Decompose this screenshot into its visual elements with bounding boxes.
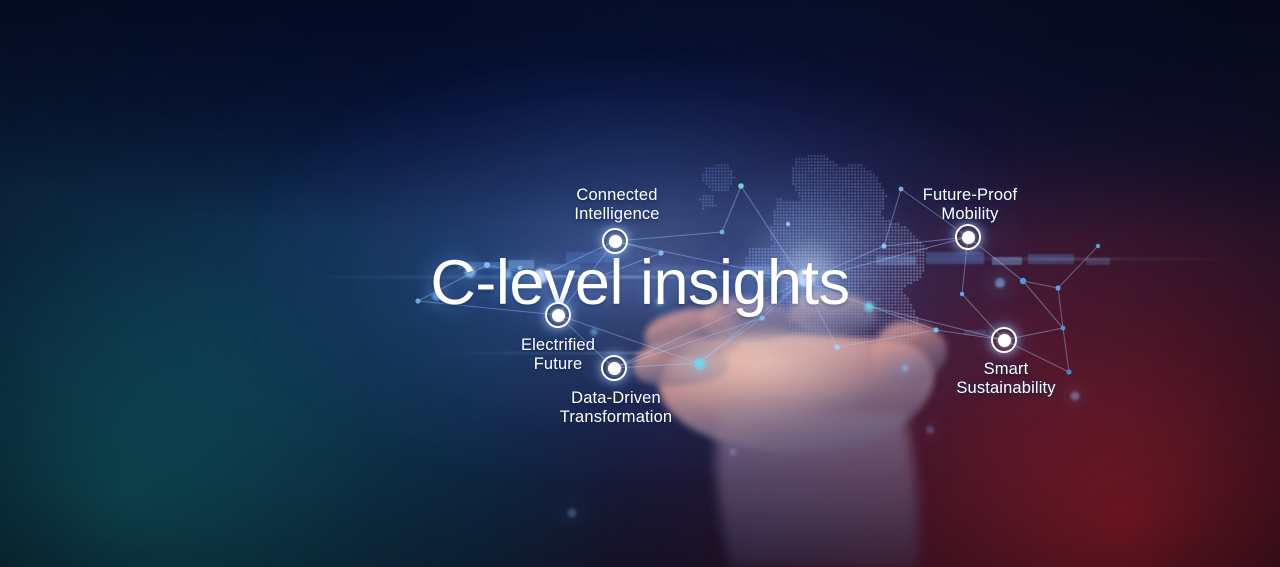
node-marker-smart-sustainability[interactable] bbox=[991, 327, 1017, 353]
node-label-future-proof-mobility: Future-Proof Mobility bbox=[923, 186, 1017, 224]
node-marker-data-driven-transformation[interactable] bbox=[601, 355, 627, 381]
node-label-connected-intelligence: Connected Intelligence bbox=[574, 186, 659, 224]
node-label-data-driven-transformation: Data-Driven Transformation bbox=[560, 389, 672, 427]
page-title: C-level insights bbox=[0, 252, 1280, 315]
node-marker-future-proof-mobility[interactable] bbox=[955, 224, 981, 250]
hero-banner: C-level insights Connected IntelligenceF… bbox=[0, 0, 1280, 567]
node-marker-connected-intelligence[interactable] bbox=[602, 228, 628, 254]
node-label-smart-sustainability: Smart Sustainability bbox=[956, 360, 1055, 398]
node-label-electrified-future: Electrified Future bbox=[521, 336, 595, 374]
node-marker-electrified-future[interactable] bbox=[545, 302, 571, 328]
